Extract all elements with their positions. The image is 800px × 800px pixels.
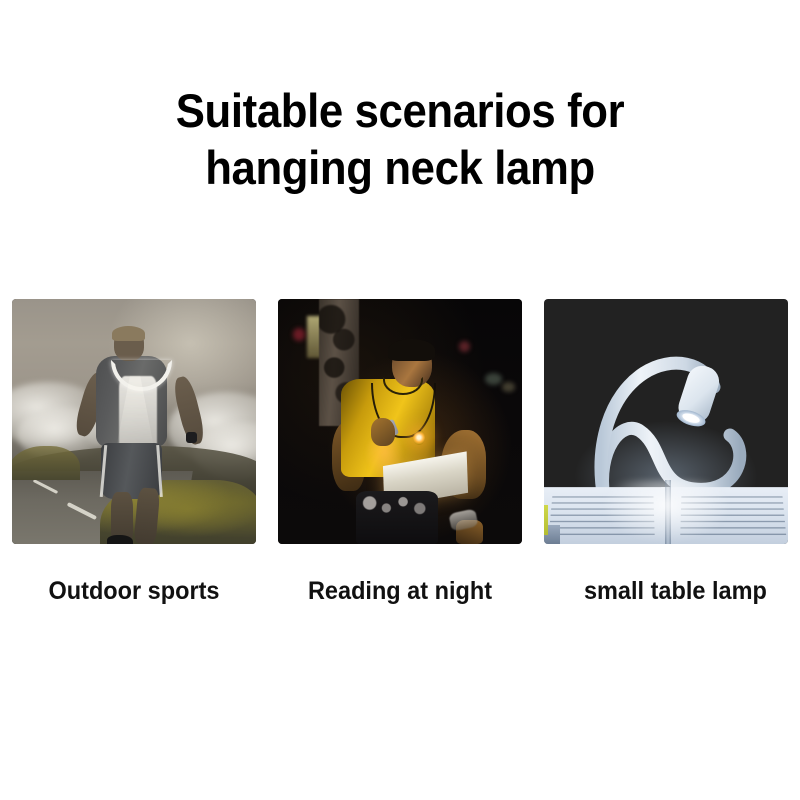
open-book [544,480,788,544]
runner-watch [186,432,197,443]
caption-reading-at-night: Reading at night [285,576,514,610]
scenario-photo-reading-at-night [278,299,522,544]
table-lamp-scene [544,299,788,544]
page-light-highlight [599,480,733,544]
night-scene [278,299,522,544]
roadside-vegetation [12,446,80,480]
bokeh-light [293,328,305,340]
title-line-2: hanging neck lamp [28,139,772,196]
runner-figure [75,328,202,544]
scenario-photo-outdoor-sports [12,299,256,544]
outdoor-scene [12,299,256,544]
scenario-image-row [12,299,788,544]
bokeh-light [485,373,502,385]
bokeh-light [502,382,514,392]
runner-hair [112,326,145,341]
runner-leg [134,487,160,544]
caption-small-table-lamp: small table lamp [561,576,790,610]
title-line-1: Suitable scenarios for [28,82,772,139]
reader-figure [332,341,483,544]
product-feature-card: Suitable scenarios for hanging neck lamp [0,0,800,800]
caption-outdoor-sports: Outdoor sports [19,576,248,610]
shorts-pattern [359,493,435,517]
reader-hand [371,418,395,446]
scenario-caption-row: Outdoor sports Reading at night small ta… [12,576,788,610]
book-bookmark [544,505,548,536]
runner-shoe [107,535,132,544]
lamp-head [674,362,723,430]
reader-hair [388,339,435,361]
page-title: Suitable scenarios for hanging neck lamp [0,82,800,196]
scenario-photo-small-table-lamp [544,299,788,544]
